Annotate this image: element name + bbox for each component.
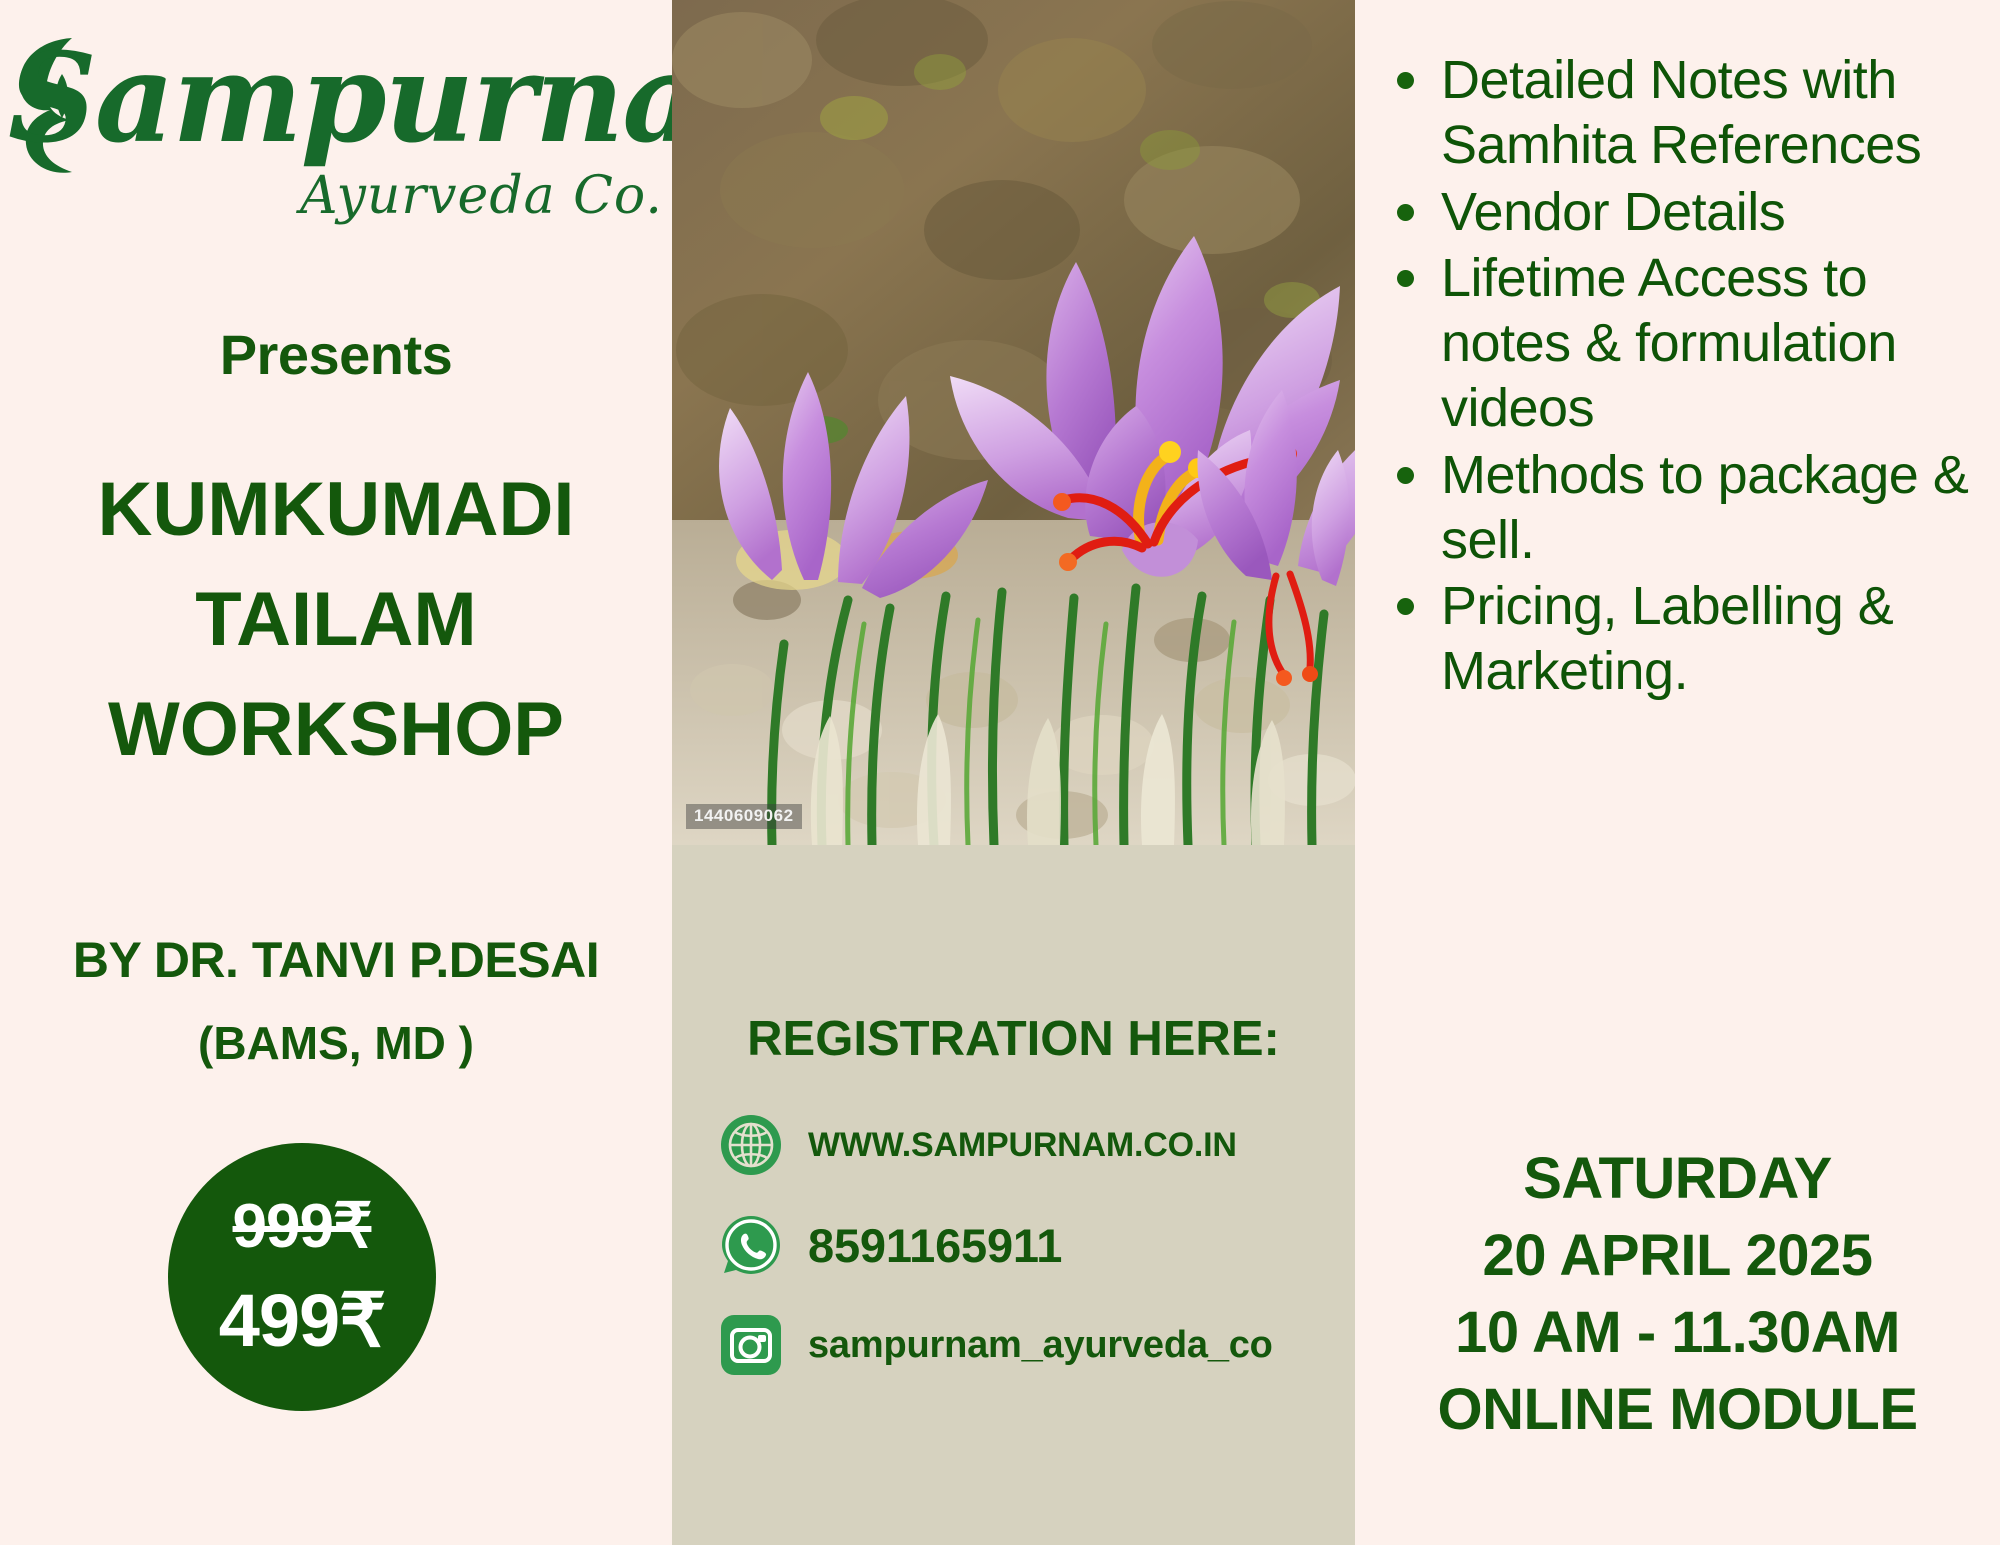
bullet-icon xyxy=(1397,270,1414,287)
contact-row-website[interactable]: WWW.SAMPURNAM.CO.IN xyxy=(720,1095,1340,1195)
schedule-block: SATURDAY 20 APRIL 2025 10 AM - 11.30AM O… xyxy=(1355,1140,2000,1449)
right-column: Detailed Notes with Samhita References V… xyxy=(1355,0,2000,1545)
website-label: WWW.SAMPURNAM.CO.IN xyxy=(808,1126,1237,1165)
registration-panel: REGISTRATION HERE: xyxy=(672,845,1355,1545)
bullet-icon xyxy=(1397,72,1414,89)
bullet-icon xyxy=(1397,204,1414,221)
benefit-item: Methods to package & sell. xyxy=(1375,443,2000,573)
benefit-item: Detailed Notes with Samhita References xyxy=(1375,48,2000,178)
title-line-3: WORKSHOP xyxy=(0,675,672,785)
presents-label: Presents xyxy=(0,322,672,387)
brand-tagline: Ayurveda Co. xyxy=(300,170,663,222)
discounted-price: 499₹ xyxy=(219,1284,386,1358)
registration-heading: REGISTRATION HERE: xyxy=(672,1011,1355,1067)
schedule-time: 10 AM - 11.30AM xyxy=(1355,1294,2000,1371)
instagram-icon xyxy=(720,1314,782,1376)
whatsapp-icon xyxy=(720,1214,782,1276)
presenter-name: BY DR. TANVI P.DESAI xyxy=(0,935,672,985)
bullet-icon xyxy=(1397,598,1414,615)
benefit-text: Detailed Notes with Samhita References xyxy=(1441,50,1921,175)
presenter-qualification: (BAMS, MD ) xyxy=(0,1020,672,1066)
bullet-icon xyxy=(1397,467,1414,484)
schedule-date: 20 APRIL 2025 xyxy=(1355,1217,2000,1294)
instagram-label: sampurnam_ayurveda_co xyxy=(808,1324,1273,1367)
contact-row-whatsapp[interactable]: 8591165911 xyxy=(720,1195,1340,1295)
phone-label: 8591165911 xyxy=(808,1218,1062,1273)
saffron-crocus-photo: 1440609062 xyxy=(672,0,1355,845)
price-badge: 999₹ 499₹ xyxy=(168,1143,436,1411)
benefit-text: Methods to package & sell. xyxy=(1441,445,1968,570)
contact-list: WWW.SAMPURNAM.CO.IN 8591165911 xyxy=(720,1095,1340,1395)
benefit-item: Lifetime Access to notes & formulation v… xyxy=(1375,246,2000,440)
benefit-text: Pricing, Labelling & Marketing. xyxy=(1441,576,1893,701)
benefits-list: Detailed Notes with Samhita References V… xyxy=(1375,48,2000,706)
benefit-item: Pricing, Labelling & Marketing. xyxy=(1375,574,2000,704)
title-line-2: TAILAM xyxy=(0,565,672,675)
benefit-text: Vendor Details xyxy=(1441,182,1785,242)
photo-illustration xyxy=(672,0,1355,845)
globe-icon xyxy=(720,1114,782,1176)
benefit-text: Lifetime Access to notes & formulation v… xyxy=(1441,248,1897,438)
photo-watermark: 1440609062 xyxy=(686,804,802,829)
benefit-item: Vendor Details xyxy=(1375,180,2000,245)
schedule-day: SATURDAY xyxy=(1355,1140,2000,1217)
workshop-title: KUMKUMADI TAILAM WORKSHOP xyxy=(0,455,672,786)
poster-root: Sampurnam Ayurveda Co. Presents KUMKUMAD… xyxy=(0,0,2000,1545)
brand-logo: Sampurnam Ayurveda Co. xyxy=(0,10,672,240)
middle-column: 1440609062 REGISTRATION HERE: xyxy=(672,0,1355,1545)
left-column: Sampurnam Ayurveda Co. Presents KUMKUMAD… xyxy=(0,0,672,1545)
title-line-1: KUMKUMADI xyxy=(0,455,672,565)
contact-row-instagram[interactable]: sampurnam_ayurveda_co xyxy=(720,1295,1340,1395)
original-price: 999₹ xyxy=(233,1196,372,1258)
schedule-mode: ONLINE MODULE xyxy=(1355,1371,2000,1448)
